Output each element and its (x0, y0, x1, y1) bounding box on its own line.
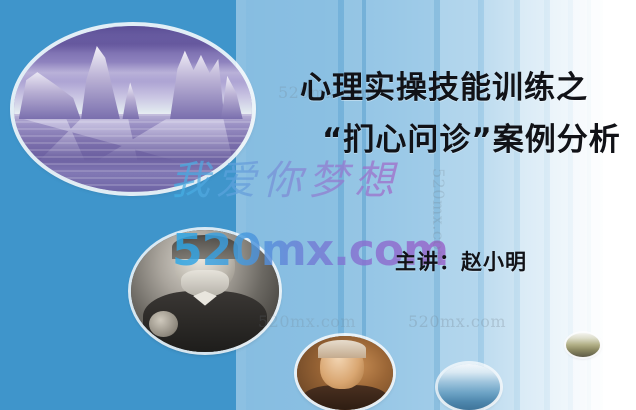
freud-portrait-image (131, 230, 279, 352)
sepia-portrait-image (297, 336, 393, 410)
olive-oval-image (566, 333, 600, 357)
portrait-hair (318, 340, 366, 358)
portrait-hair (172, 235, 237, 259)
blue-gradient-oval-image (438, 364, 500, 410)
background-stripe (550, 0, 568, 410)
background-stripe (484, 0, 514, 410)
background-stripe (603, 0, 636, 410)
presenter-label: 主讲：赵小明 (395, 246, 527, 276)
background-stripe (520, 0, 544, 410)
presentation-slide: 我爱你梦想 520mx.com 520mx.com 520mx.com 520m… (0, 0, 636, 410)
crystal-landscape-image (14, 26, 252, 192)
background-stripe (440, 0, 478, 410)
